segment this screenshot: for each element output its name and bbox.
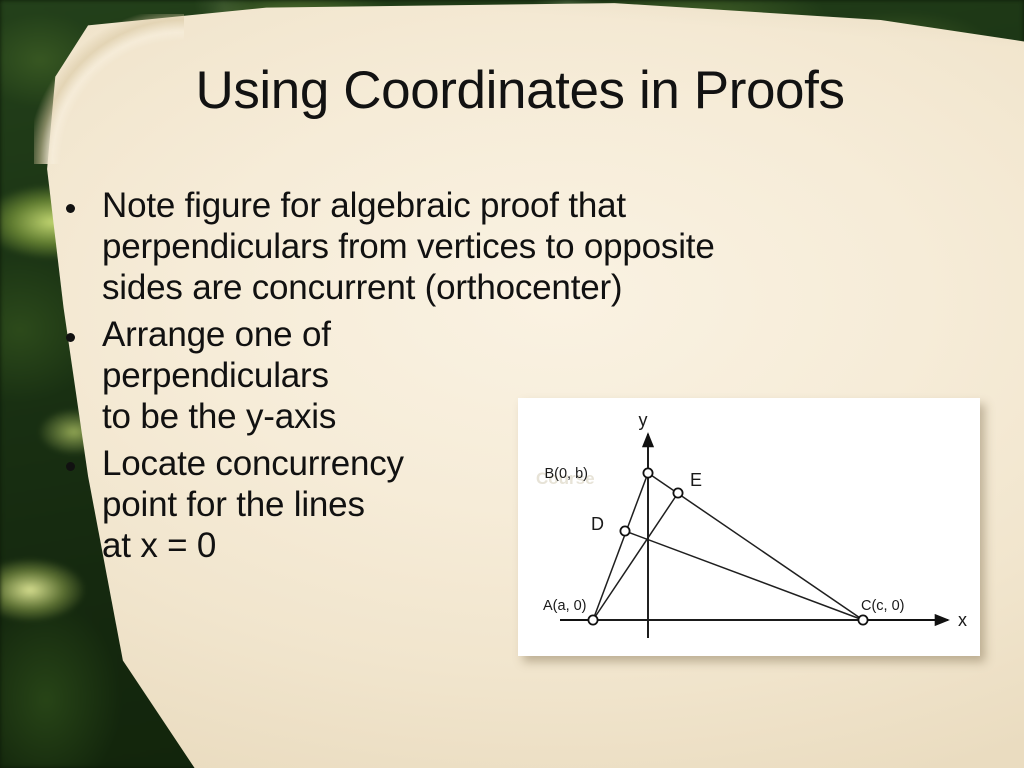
point-D (620, 526, 629, 535)
bullet-marker-icon (66, 204, 75, 213)
point-label-C: C(c, 0) (861, 598, 905, 614)
x-axis-label: x (958, 610, 967, 630)
bullet-locate-concurrency: Locate concurrency point for the lines a… (58, 444, 572, 567)
point-label-B: B(0, b) (544, 466, 588, 482)
page-title: Using Coordinates in Proofs (70, 62, 970, 119)
bullet-note-figure: Note figure for algebraic proof that per… (58, 186, 948, 309)
bullet-line: Locate concurrency (102, 444, 572, 485)
point-label-A: A(a, 0) (543, 598, 587, 614)
point-label-D: D (591, 514, 604, 534)
y-axis-label: y (639, 410, 648, 430)
segment-altitude-from-C-through-D (625, 531, 863, 620)
bullet-line: perpendiculars (102, 356, 572, 397)
bullet-line: sides are concurrent (orthocenter) (102, 268, 948, 309)
bullet-line: at x = 0 (102, 526, 572, 567)
segment-side-AB (593, 473, 648, 620)
point-B (643, 468, 652, 477)
bullet-line: perpendiculars from vertices to opposite (102, 227, 948, 268)
bullet-marker-icon (66, 333, 75, 342)
point-C (858, 615, 867, 624)
orthocenter-figure: Course A(a, 0) B( (518, 398, 980, 656)
segment-altitude-from-A-through-E (593, 493, 678, 620)
point-E (673, 488, 682, 497)
point-label-E: E (690, 470, 702, 490)
bullet-arrange-perpendicular: Arrange one of perpendiculars to be the … (58, 315, 572, 438)
point-A (588, 615, 597, 624)
bullet-line: to be the y-axis (102, 397, 572, 438)
orthocenter-diagram: Course A(a, 0) B( (518, 398, 980, 656)
bullet-line: Arrange one of (102, 315, 572, 356)
slide: Using Coordinates in Proofs Note figure … (0, 0, 1024, 768)
bullet-line: point for the lines (102, 485, 572, 526)
bullet-marker-icon (66, 462, 75, 471)
slide-content: Using Coordinates in Proofs Note figure … (0, 0, 1024, 768)
bullet-line: Note figure for algebraic proof that (102, 186, 948, 227)
